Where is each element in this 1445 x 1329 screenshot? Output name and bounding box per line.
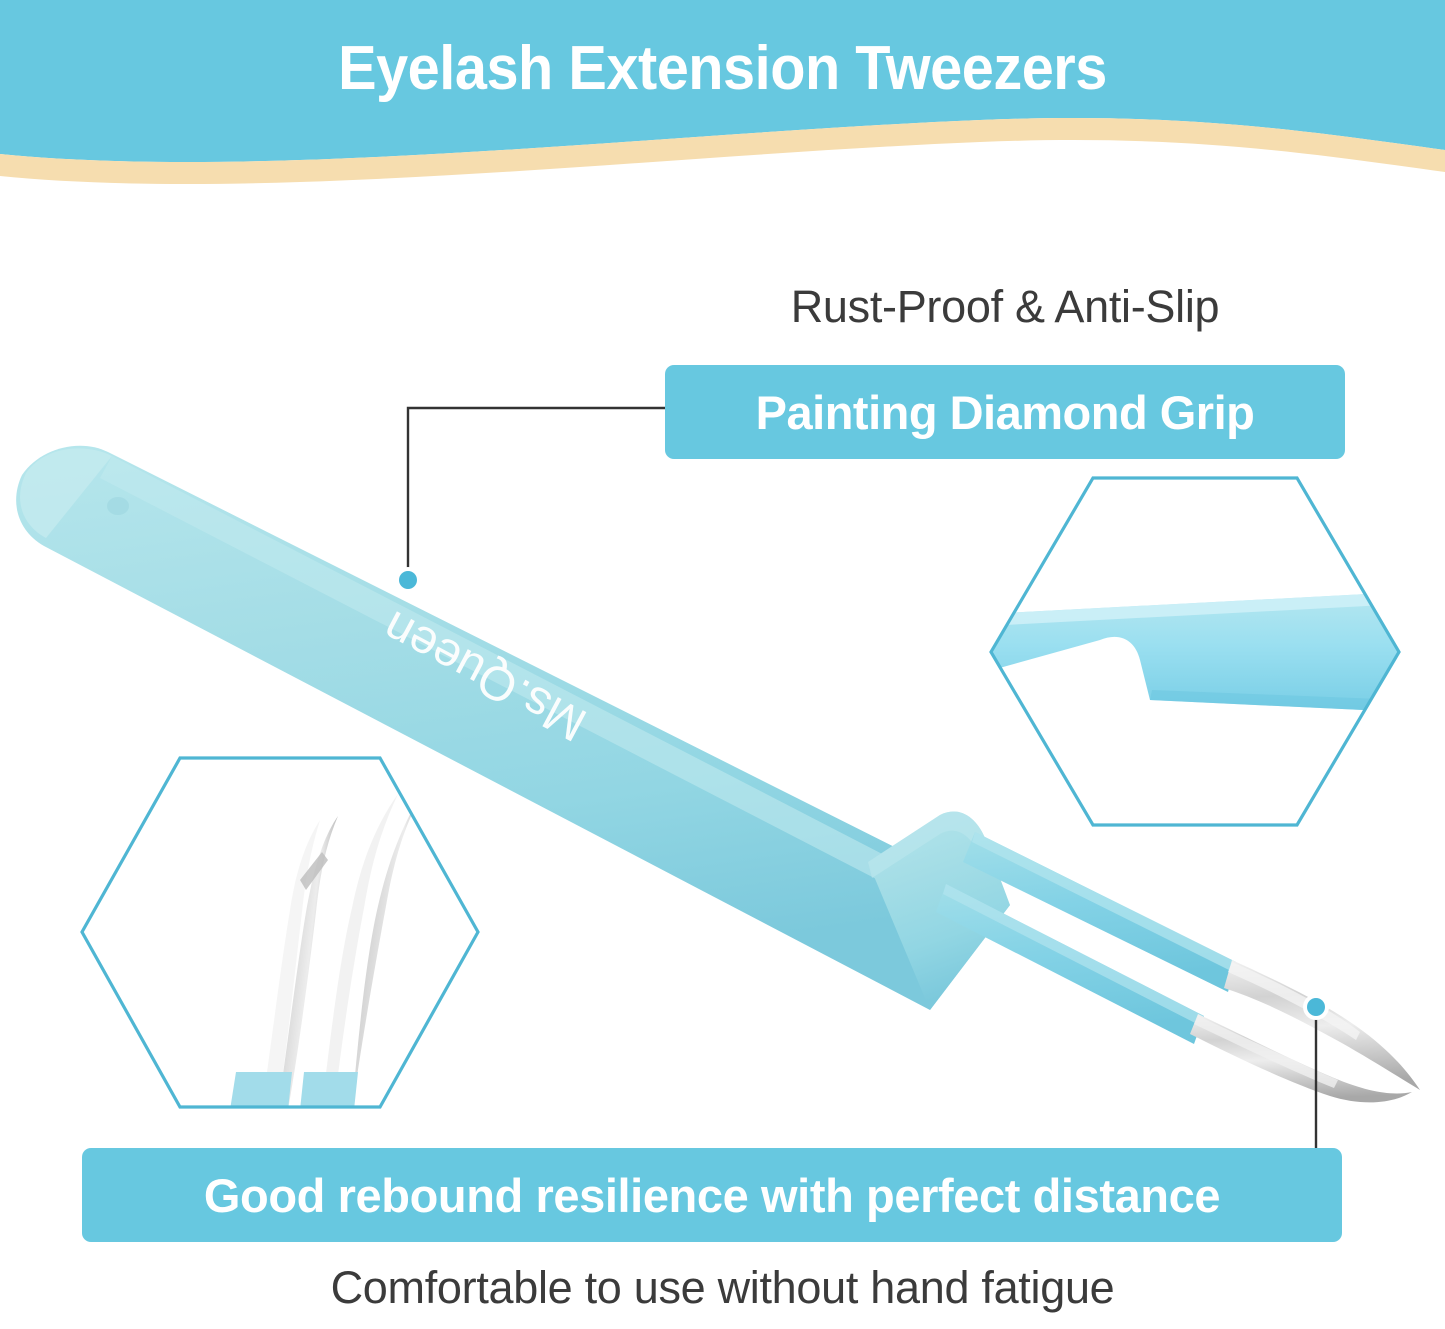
- tweezer-lower-arm: [936, 884, 1204, 1044]
- subhead-rust-proof: Rust-Proof & Anti-Slip: [665, 281, 1345, 333]
- inset-diamond-grip[interactable]: [985, 472, 1405, 832]
- page-title: Eyelash Extension Tweezers: [51, 38, 1395, 100]
- tweezer-lower-metal-tip: [1190, 1014, 1412, 1102]
- brand-imprint-text: Ms.Queen: [375, 600, 595, 751]
- marker-dot-grip: [399, 571, 417, 589]
- tweezer-upper-arm: [963, 832, 1236, 992]
- marker-dot-rebound: [1307, 998, 1325, 1016]
- brand-imprint: Ms.Queen: [375, 600, 595, 751]
- subhead-comfortable: Comfortable to use without hand fatigue: [0, 1262, 1445, 1314]
- marker-dot-rebound-halo: [1303, 994, 1329, 1020]
- tweezer-upper-metal-tip: [1224, 960, 1420, 1090]
- banner-good-rebound: Good rebound resilience with perfect dis…: [82, 1148, 1342, 1242]
- marker-dot-grip-halo: [395, 567, 421, 593]
- banner-painting-diamond-grip: Painting Diamond Grip: [665, 365, 1345, 459]
- infographic-canvas: Eyelash Extension Tweezers: [0, 0, 1445, 1329]
- inset-curved-tips[interactable]: [76, 752, 486, 1114]
- tweezer-shoulder-notch: [868, 812, 1010, 1010]
- leader-line-grip: [408, 408, 668, 580]
